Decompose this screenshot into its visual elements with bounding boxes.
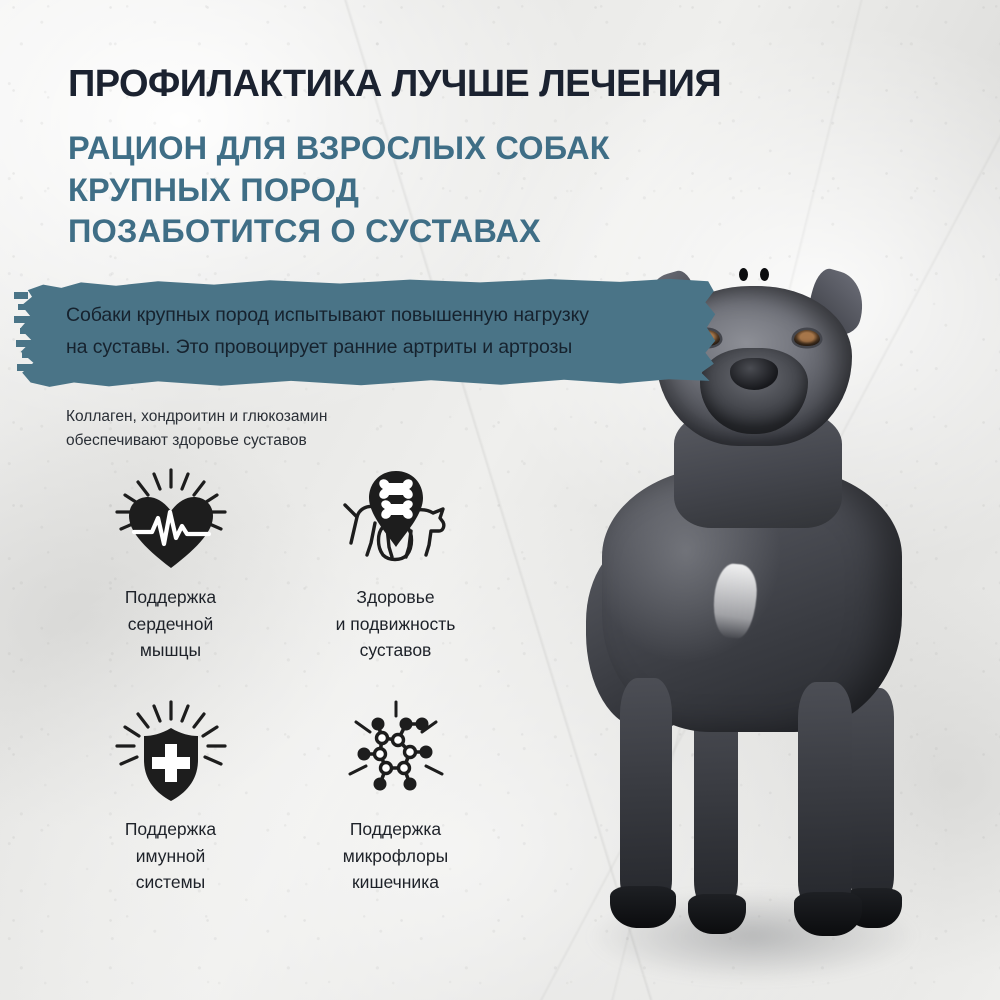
benefit-caption-line-3: кишечника xyxy=(343,869,448,896)
dog-front-left-leg xyxy=(620,678,672,902)
benefit-joint-health: Здоровье и подвижность суставов xyxy=(283,462,508,694)
microflora-molecule-icon xyxy=(336,694,456,812)
dog-front-left-paw xyxy=(610,886,676,928)
benefit-caption-line-3: мышцы xyxy=(125,637,216,664)
dog-left-nostril xyxy=(739,268,748,281)
benefit-caption-line-3: суставов xyxy=(336,637,456,664)
benefit-caption: Поддержка имунной системы xyxy=(125,816,216,896)
benefit-immune-support: Поддержка имунной системы xyxy=(58,694,283,926)
blue-brush-banner: Собаки крупных пород испытывают повышенн… xyxy=(18,278,718,388)
banner-text: Собаки крупных пород испытывают повышенн… xyxy=(66,300,666,363)
benefit-caption-line-2: имунной xyxy=(125,843,216,870)
collagen-note-line-1: Коллаген, хондроитин и глюкозамин xyxy=(66,405,486,429)
dog-right-nostril xyxy=(760,268,769,281)
page-subheadline: РАЦИОН ДЛЯ ВЗРОСЛЫХ СОБАК КРУПНЫХ ПОРОД … xyxy=(68,128,768,253)
collagen-note-line-2: обеспечивают здоровье суставов xyxy=(66,429,486,453)
benefit-caption-line-2: и подвижность xyxy=(336,611,456,638)
benefit-caption-line-1: Поддержка xyxy=(125,584,216,611)
benefit-caption: Здоровье и подвижность суставов xyxy=(336,584,456,664)
benefit-caption-line-2: микрофлоры xyxy=(343,843,448,870)
dog-back-right-leg xyxy=(850,688,894,896)
heart-pulse-icon xyxy=(112,462,230,580)
banner-text-line-2: на суставы. Это провоцирует ранние артри… xyxy=(66,332,666,364)
benefit-caption-line-3: системы xyxy=(125,869,216,896)
shield-cross-icon xyxy=(112,694,230,812)
banner-text-line-1: Собаки крупных пород испытывают повышенн… xyxy=(66,300,666,332)
page-headline: ПРОФИЛАКТИКА ЛУЧШЕ ЛЕЧЕНИЯ xyxy=(68,64,968,104)
benefit-heart-support: Поддержка сердечной мышцы xyxy=(58,462,283,694)
dog-floor-shadow xyxy=(518,858,988,988)
dog-front-right-paw xyxy=(794,892,862,936)
dog-front-right-leg xyxy=(798,682,852,904)
dog-joint-pin-icon xyxy=(333,462,459,580)
dog-back-left-paw xyxy=(688,894,746,934)
subheadline-line-2: КРУПНЫХ ПОРОД xyxy=(68,170,768,212)
benefit-microflora-support: Поддержка микрофлоры кишечника xyxy=(283,694,508,926)
benefit-caption-line-1: Здоровье xyxy=(336,584,456,611)
benefit-caption: Поддержка сердечной мышцы xyxy=(125,584,216,664)
banner-brush-frayed-edge xyxy=(14,282,60,384)
collagen-note: Коллаген, хондроитин и глюкозамин обеспе… xyxy=(66,405,486,454)
subheadline-line-3: ПОЗАБОТИТСЯ О СУСТАВАХ xyxy=(68,211,768,253)
benefit-caption-line-1: Поддержка xyxy=(125,816,216,843)
benefit-caption-line-2: сердечной xyxy=(125,611,216,638)
benefit-caption: Поддержка микрофлоры кишечника xyxy=(343,816,448,896)
benefits-grid: Поддержка сердечной мышцы Здоровье и под… xyxy=(58,462,508,926)
dog-right-eye xyxy=(794,330,820,346)
subheadline-line-1: РАЦИОН ДЛЯ ВЗРОСЛЫХ СОБАК xyxy=(68,128,768,170)
benefit-caption-line-1: Поддержка xyxy=(343,816,448,843)
